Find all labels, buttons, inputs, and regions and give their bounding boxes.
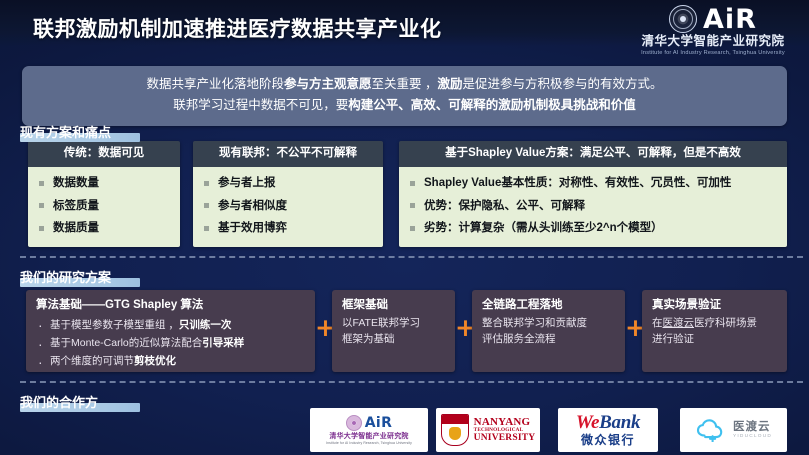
bullet-text: 基于Monte-Carlo的近似算法配合 [50,337,202,349]
partner-logo-yiducloud: 医渡云 YIDUCLOUD [680,408,787,452]
plan-card-line-2: 评估服务全流程 [482,332,616,347]
section-heading-research: 我们的研究方案 [20,267,111,286]
pain-card-body: 参与者上报 参与者相似度 基于效用博弈 [193,167,383,248]
summary-l1-e: 是促进参与方积极参与的有效方式。 [463,77,663,91]
pain-card-title: 传统：数据可见 [28,141,180,167]
pain-card-title: 基于Shapley Value方案：满足公平、可解释，但是不高效 [399,141,787,167]
section-heading-pain: 现有方案和痛点 [20,122,111,141]
validation-suffix: 医疗科研场景 [694,317,757,329]
bullet-emphasis: 引导采样 [202,337,244,349]
partner-logo-air: AiR 清华大学智能产业研究院 Institute for AI Industr… [310,408,428,452]
air-wordmark: AiR [365,416,393,430]
summary-banner: 数据共享产业化落地阶段参与方主观意愿至关重要 ，激励是促进参与方积极参与的有效方… [22,66,787,126]
plan-card-framework: 框架基础 以FATE联邦学习 框架为基础 [332,290,455,372]
validation-partner: 医渡云 [663,317,695,329]
ntu-crest-icon [441,414,469,446]
tsinghua-seal-icon [669,5,697,33]
pain-card-shapley-value: 基于Shapley Value方案：满足公平、可解释，但是不高效 Shapley… [399,141,787,247]
bullet-emphasis: 剪枝优化 [134,355,176,367]
slide-root: 联邦激励机制加速推进医疗数据共享产业化 AiR 清华大学智能产业研究院 Inst… [0,0,809,455]
cloud-plus-icon [695,418,727,442]
summary-l1-b: 参与方主观意愿 [284,77,372,91]
list-item: 数据质量 [36,218,174,241]
list-item: 基于模型参数子模型重组 ，只训练一次 [36,316,306,334]
list-item: 两个维度的可调节剪枝优化 [36,353,306,371]
section-divider-2 [20,381,803,383]
pain-card-title: 现有联邦：不公平不可解释 [193,141,383,167]
section-divider-1 [20,256,803,258]
bullet-text: 基于模型参数子模型重组 ， [50,319,179,331]
section-heading-pain-label: 现有方案和痛点 [20,125,111,140]
list-item: 劣势：计算复杂（需从头训练至少2^n个模型） [407,218,781,241]
summary-l2-b: 构建公平、高效、可解释的激励机制极具挑战和价值 [348,98,636,112]
plan-card-algorithm: 算法基础——GTG Shapley 算法 基于模型参数子模型重组 ，只训练一次 … [26,290,315,372]
air-wordmark: AiR [703,6,757,33]
slide-header: 联邦激励机制加速推进医疗数据共享产业化 AiR 清华大学智能产业研究院 Inst… [0,0,809,48]
pain-card-body: Shapley Value基本性质：对称性、有效性、冗员性、可加性 优势：保护隐… [399,167,787,248]
bullet-emphasis: 只训练一次 [179,319,232,331]
plan-card-line-2: 进行验证 [652,332,778,347]
partner-webank-bank: Bank [599,412,640,433]
pain-card-existing-federated: 现有联邦：不公平不可解释 参与者上报 参与者相似度 基于效用博弈 [193,141,383,247]
plan-card-engineering: 全链路工程落地 整合联邦学习和贡献度 评估服务全流程 [472,290,625,372]
page-title: 联邦激励机制加速推进医疗数据共享产业化 [33,13,442,43]
plan-card-title: 真实场景验证 [652,298,778,312]
list-item: 基于Monte-Carlo的近似算法配合引导采样 [36,335,306,353]
air-brand-en: Institute for AI Industry Research, Tsin… [625,50,801,56]
list-item: Shapley Value基本性质：对称性、有效性、冗员性、可加性 [407,173,781,196]
summary-l1-a: 数据共享产业化落地阶段 [146,77,284,91]
plan-card-line-2: 框架为基础 [342,332,446,347]
list-item: 标签质量 [36,195,174,218]
air-brand-cn: 清华大学智能产业研究院 [625,35,801,49]
partner-logo-webank: WeBank 微众银行 [558,408,658,452]
summary-l1-d: 激励 [437,77,462,91]
section-heading-research-label: 我们的研究方案 [20,270,111,285]
list-item: 参与者相似度 [201,195,377,218]
partner-air-cn: 清华大学智能产业研究院 [329,433,408,440]
section-heading-partners: 我们的合作方 [20,392,98,411]
validation-prefix: 在 [652,317,663,329]
air-brand-logo: AiR 清华大学智能产业研究院 Institute for AI Industr… [625,4,801,56]
summary-line-1: 数据共享产业化落地阶段参与方主观意愿至关重要 ，激励是促进参与方积极参与的有效方… [34,74,775,95]
summary-l1-c: 至关重要 ， [372,77,438,91]
partner-air-en: Institute for AI Industry Research, Tsin… [326,442,412,445]
summary-l2-a: 联邦学习过程中数据不可见，要 [173,98,348,112]
tsinghua-seal-icon [346,415,362,431]
partner-logo-ntu: NANYANG TECHNOLOGICAL UNIVERSITY [436,408,540,452]
list-item: 基于效用博弈 [201,218,377,241]
plan-card-line-1: 以FATE联邦学习 [342,316,446,331]
pain-card-body: 数据数量 标签质量 数据质量 [28,167,180,248]
list-item: 优势：保护隐私、公平、可解释 [407,195,781,218]
list-item: 数据数量 [36,173,174,196]
summary-line-2: 联邦学习过程中数据不可见，要构建公平、高效、可解释的激励机制极具挑战和价值 [34,95,775,116]
partner-webank-we: We [576,412,599,433]
plan-card-line-1: 在医渡云医疗科研场景 [652,316,778,331]
bullet-text: 两个维度的可调节 [50,355,134,367]
partner-yiducloud-en: YIDUCLOUD [733,434,772,439]
plan-card-title: 框架基础 [342,298,446,312]
list-item: 参与者上报 [201,173,377,196]
plan-card-title: 全链路工程落地 [482,298,616,312]
plan-card-title: 算法基础——GTG Shapley 算法 [36,298,306,312]
partner-yiducloud-cn: 医渡云 [733,421,772,434]
partner-webank-cn: 微众银行 [576,434,640,447]
partner-ntu-line-3: UNIVERSITY [474,434,536,444]
plan-card-line-1: 整合联邦学习和贡献度 [482,316,616,331]
section-heading-partners-label: 我们的合作方 [20,395,98,410]
plan-card-validation: 真实场景验证 在医渡云医疗科研场景 进行验证 [642,290,787,372]
pain-card-traditional: 传统：数据可见 数据数量 标签质量 数据质量 [28,141,180,247]
